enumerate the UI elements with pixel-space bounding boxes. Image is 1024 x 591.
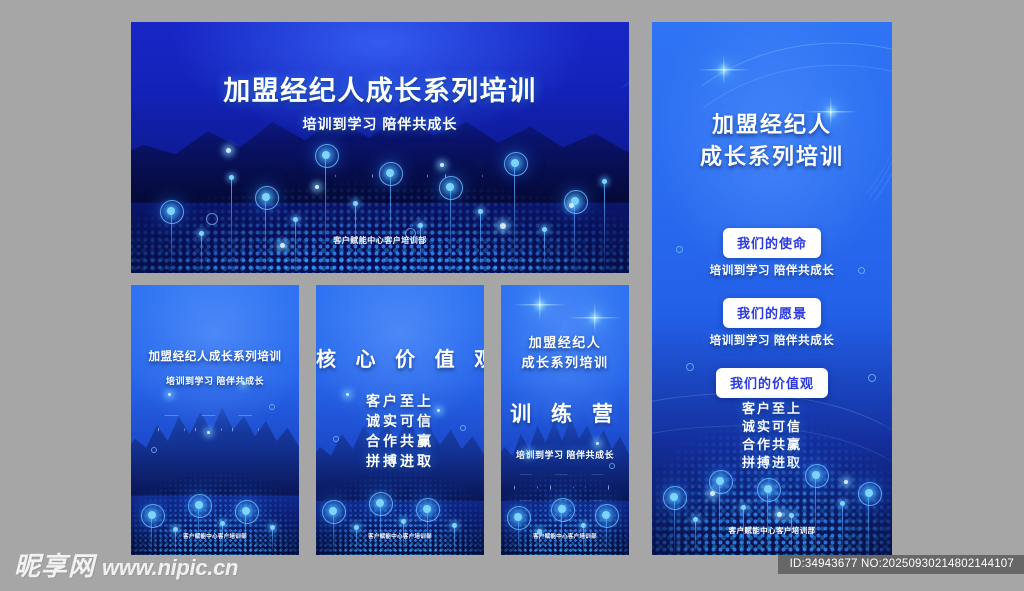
right-vertical-poster[interactable]: 加盟经纪人 成长系列培训 我们的使命 培训到学习 陪伴共成长 我们的愿景 培训到… <box>652 22 892 555</box>
core-values-pillars <box>316 285 484 555</box>
watermark-url: www.nipic.cn <box>102 555 238 581</box>
small-poster-core-values[interactable]: 核 心 价 值 观 客户至上 诚实可信 合作共赢 拼搏进取 客户赋能中心客户培训… <box>316 285 484 555</box>
camp-pillars <box>501 285 629 555</box>
right-poster-pillars <box>652 22 892 555</box>
image-id-label: ID:34943677 NO:20250930214802144107 <box>778 555 1024 574</box>
screenshot-canvas: 加盟经纪人成长系列培训 培训到学习 陪伴共成长 客户赋能中心客户培训部 加盟经纪… <box>0 0 1024 591</box>
core-values-footer: 客户赋能中心客户培训部 <box>316 532 484 540</box>
banner-title: 加盟经纪人成长系列培训 <box>131 69 629 108</box>
small-poster-intro[interactable]: 加盟经纪人成长系列培训 培训到学习 陪伴共成长 客户赋能中心客户培训部 <box>131 285 299 555</box>
watermark-brand-cn: 昵享网 <box>14 546 95 583</box>
intro-pillars <box>131 285 299 555</box>
small-poster-camp[interactable]: 加盟经纪人 成长系列培训 训 练 营 培训到学习 陪伴共成长 客户赋能中心客户培… <box>501 285 629 555</box>
banner-footer: 客户赋能中心客户培训部 <box>131 235 629 246</box>
camp-footer: 客户赋能中心客户培训部 <box>501 532 629 540</box>
right-poster-footer: 客户赋能中心客户培训部 <box>652 525 892 536</box>
intro-footer: 客户赋能中心客户培训部 <box>131 532 299 540</box>
banner-subtitle: 培训到学习 陪伴共成长 <box>131 114 629 134</box>
main-banner-poster[interactable]: 加盟经纪人成长系列培训 培训到学习 陪伴共成长 客户赋能中心客户培训部 <box>131 22 629 273</box>
